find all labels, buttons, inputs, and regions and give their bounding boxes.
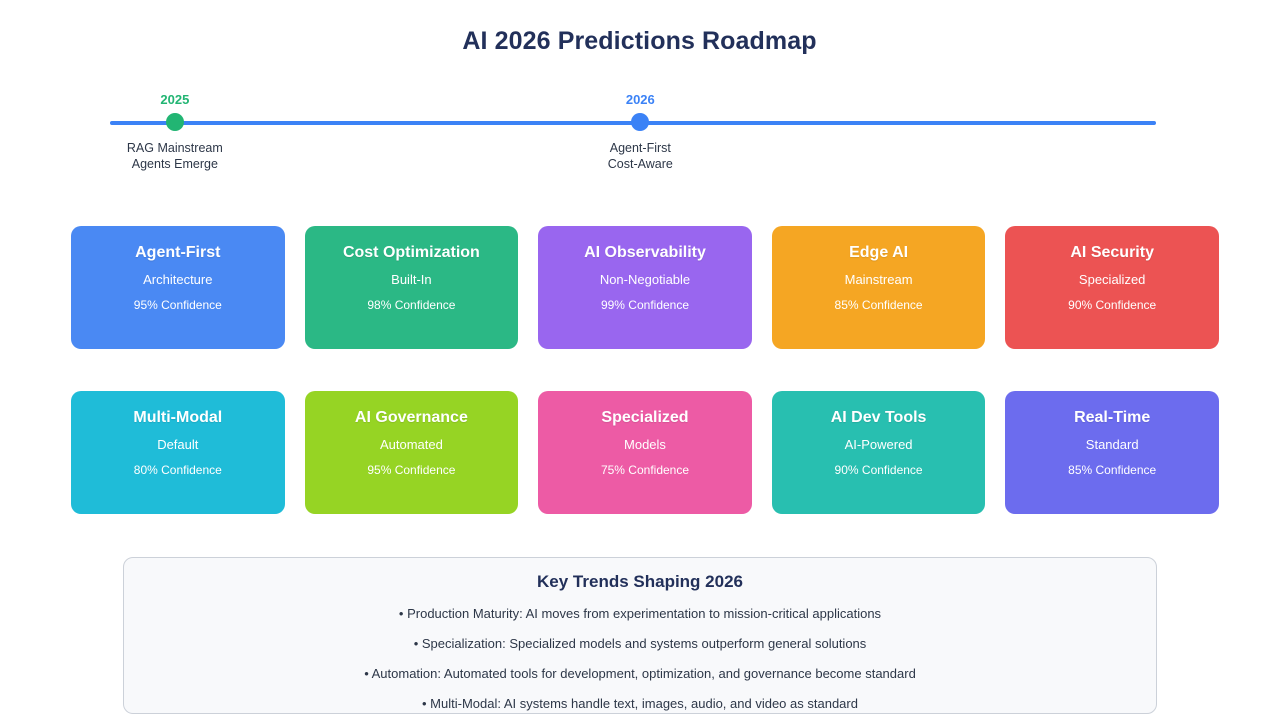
key-trends-title: Key Trends Shaping 2026 <box>124 572 1156 592</box>
timeline-dot-icon[interactable] <box>166 113 184 131</box>
card-subtitle: Built-In <box>391 271 431 288</box>
prediction-card[interactable]: Real-Time Standard 85% Confidence <box>1005 391 1219 514</box>
timeline: 2025 RAG Mainstream Agents Emerge 2026 A… <box>110 92 1156 182</box>
card-title: Edge AI <box>849 243 908 263</box>
card-confidence: 80% Confidence <box>134 462 222 478</box>
timeline-node-2025[interactable]: 2025 RAG Mainstream Agents Emerge <box>75 92 275 172</box>
prediction-card[interactable]: AI Dev Tools AI-Powered 90% Confidence <box>772 391 986 514</box>
timeline-node-2026[interactable]: 2026 Agent-First Cost-Aware <box>540 92 740 172</box>
card-title: AI Dev Tools <box>831 408 927 428</box>
card-title: AI Observability <box>584 243 706 263</box>
trend-list-item: • Automation: Automated tools for develo… <box>124 665 1156 682</box>
prediction-card[interactable]: Edge AI Mainstream 85% Confidence <box>772 226 986 349</box>
card-title: AI Security <box>1070 243 1154 263</box>
card-subtitle: Default <box>157 436 198 453</box>
card-confidence: 95% Confidence <box>367 462 455 478</box>
prediction-card[interactable]: AI Governance Automated 95% Confidence <box>305 391 519 514</box>
card-subtitle: Non-Negotiable <box>600 271 690 288</box>
card-title: AI Governance <box>355 408 468 428</box>
card-confidence: 85% Confidence <box>1068 462 1156 478</box>
prediction-cards-row-2: Multi-Modal Default 80% Confidence AI Go… <box>71 391 1219 514</box>
card-title: Multi-Modal <box>133 408 222 428</box>
timeline-node-description: RAG Mainstream Agents Emerge <box>75 140 275 172</box>
card-confidence: 85% Confidence <box>835 297 923 313</box>
card-title: Cost Optimization <box>343 243 480 263</box>
card-confidence: 95% Confidence <box>134 297 222 313</box>
card-row: Multi-Modal Default 80% Confidence AI Go… <box>71 391 1219 514</box>
card-subtitle: Architecture <box>143 271 212 288</box>
page-title: AI 2026 Predictions Roadmap <box>0 27 1279 56</box>
card-subtitle: Mainstream <box>845 271 913 288</box>
card-title: Agent-First <box>135 243 220 263</box>
timeline-year-label: 2025 <box>75 92 275 108</box>
prediction-card[interactable]: Cost Optimization Built-In 98% Confidenc… <box>305 226 519 349</box>
card-title: Real-Time <box>1074 408 1150 428</box>
prediction-cards-row-1: Agent-First Architecture 95% Confidence … <box>71 226 1219 349</box>
key-trends-panel: Key Trends Shaping 2026 • Production Mat… <box>123 557 1157 714</box>
card-subtitle: AI-Powered <box>845 436 913 453</box>
prediction-card[interactable]: AI Observability Non-Negotiable 99% Conf… <box>538 226 752 349</box>
timeline-dot-icon[interactable] <box>631 113 649 131</box>
card-subtitle: Standard <box>1086 436 1139 453</box>
trend-list-item: • Specialization: Specialized models and… <box>124 635 1156 652</box>
card-confidence: 90% Confidence <box>1068 297 1156 313</box>
card-confidence: 75% Confidence <box>601 462 689 478</box>
prediction-card[interactable]: AI Security Specialized 90% Confidence <box>1005 226 1219 349</box>
card-confidence: 90% Confidence <box>835 462 923 478</box>
timeline-node-description: Agent-First Cost-Aware <box>540 140 740 172</box>
prediction-card[interactable]: Specialized Models 75% Confidence <box>538 391 752 514</box>
card-confidence: 98% Confidence <box>367 297 455 313</box>
card-subtitle: Models <box>624 436 666 453</box>
prediction-card[interactable]: Agent-First Architecture 95% Confidence <box>71 226 285 349</box>
timeline-year-label: 2026 <box>540 92 740 108</box>
card-confidence: 99% Confidence <box>601 297 689 313</box>
card-row: Agent-First Architecture 95% Confidence … <box>71 226 1219 349</box>
card-subtitle: Automated <box>380 436 443 453</box>
trend-list-item: • Production Maturity: AI moves from exp… <box>124 605 1156 622</box>
card-subtitle: Specialized <box>1079 271 1146 288</box>
card-title: Specialized <box>601 408 688 428</box>
prediction-card[interactable]: Multi-Modal Default 80% Confidence <box>71 391 285 514</box>
trend-list-item: • Multi-Modal: AI systems handle text, i… <box>124 695 1156 712</box>
